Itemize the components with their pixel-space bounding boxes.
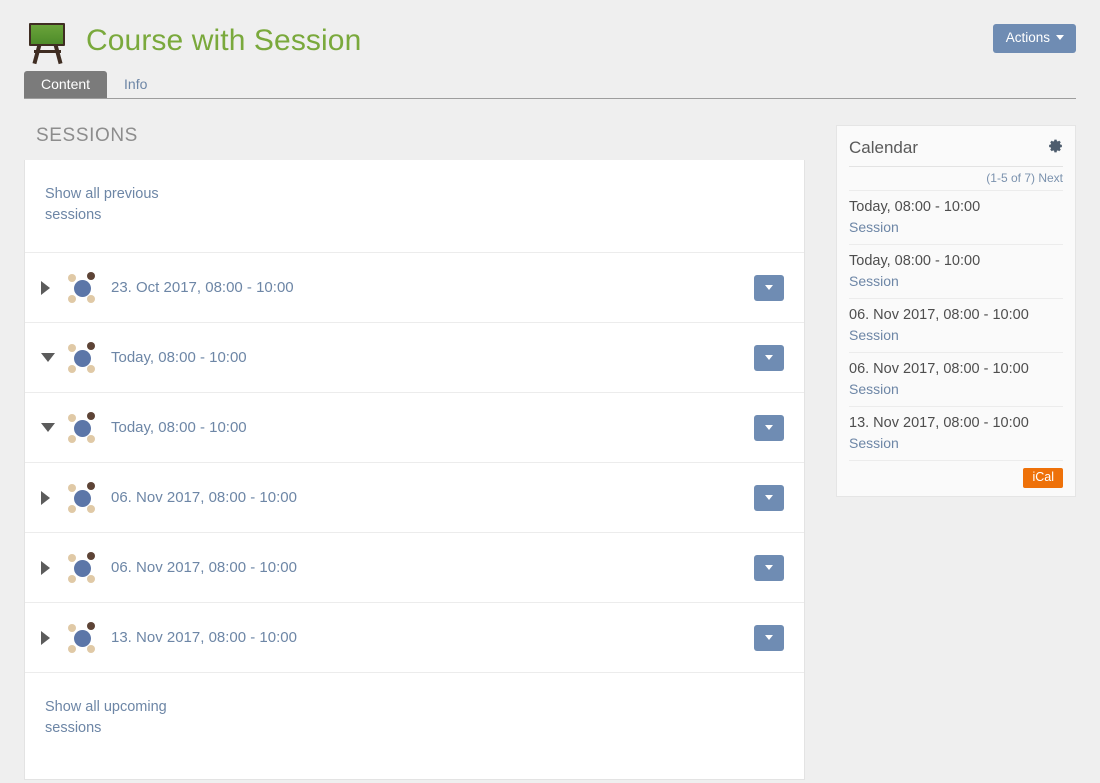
tab-bar: Content Info <box>24 68 1076 99</box>
triangle-right-icon <box>41 491 50 505</box>
gear-icon[interactable] <box>1048 139 1063 157</box>
show-upcoming-row: Show all upcoming sessions <box>25 673 804 779</box>
calendar-entry-date: Today, 08:00 - 10:00 <box>849 197 1063 217</box>
row-actions-button[interactable] <box>754 555 784 581</box>
calendar-entry-link[interactable]: Session <box>849 217 1063 237</box>
chevron-down-icon <box>1056 35 1064 40</box>
expand-collapse-toggle[interactable] <box>41 281 63 295</box>
expand-collapse-toggle[interactable] <box>41 561 63 575</box>
expand-collapse-toggle[interactable] <box>41 491 63 505</box>
sessions-panel: Show all previous sessions 23. Oct 2017,… <box>24 160 805 780</box>
calendar-entry-date: Today, 08:00 - 10:00 <box>849 251 1063 271</box>
show-previous-row: Show all previous sessions <box>25 160 804 253</box>
session-link[interactable]: 06. Nov 2017, 08:00 - 10:00 <box>111 489 754 506</box>
sessions-heading: SESSIONS <box>36 125 805 147</box>
table-row: Today, 08:00 - 10:00 <box>25 323 804 393</box>
row-actions-button[interactable] <box>754 415 784 441</box>
session-group-icon <box>65 621 99 655</box>
triangle-down-icon <box>41 423 55 432</box>
list-item: 06. Nov 2017, 08:00 - 10:00 Session <box>849 352 1063 406</box>
row-actions-button[interactable] <box>754 345 784 371</box>
calendar-column: Calendar (1-5 of 7) Next Today, 08:00 - … <box>836 125 1076 497</box>
triangle-right-icon <box>41 631 50 645</box>
expand-collapse-toggle[interactable] <box>41 631 63 645</box>
easel-chalkboard-icon <box>24 20 70 66</box>
list-item: Today, 08:00 - 10:00 Session <box>849 190 1063 244</box>
sessions-column: SESSIONS Show all previous sessions 23. … <box>24 125 805 780</box>
calendar-panel: Calendar (1-5 of 7) Next Today, 08:00 - … <box>836 125 1076 497</box>
session-group-icon <box>65 341 99 375</box>
calendar-entry-link[interactable]: Session <box>849 379 1063 399</box>
session-group-icon <box>65 271 99 305</box>
chevron-down-icon <box>765 495 773 500</box>
list-item: 06. Nov 2017, 08:00 - 10:00 Session <box>849 298 1063 352</box>
show-all-previous-sessions-link[interactable]: Show all previous sessions <box>45 184 175 226</box>
content-area: SESSIONS Show all previous sessions 23. … <box>0 125 1100 780</box>
calendar-entry-date: 06. Nov 2017, 08:00 - 10:00 <box>849 305 1063 325</box>
calendar-footer: iCal <box>849 460 1063 488</box>
show-all-upcoming-sessions-link[interactable]: Show all upcoming sessions <box>45 697 175 739</box>
table-row: 06. Nov 2017, 08:00 - 10:00 <box>25 463 804 533</box>
table-row: 23. Oct 2017, 08:00 - 10:00 <box>25 253 804 323</box>
chevron-down-icon <box>765 355 773 360</box>
calendar-entry-link[interactable]: Session <box>849 325 1063 345</box>
session-link[interactable]: 06. Nov 2017, 08:00 - 10:00 <box>111 559 754 576</box>
calendar-entry-link[interactable]: Session <box>849 271 1063 291</box>
session-link[interactable]: 23. Oct 2017, 08:00 - 10:00 <box>111 279 754 296</box>
expand-collapse-toggle[interactable] <box>41 353 63 362</box>
calendar-entry-date: 13. Nov 2017, 08:00 - 10:00 <box>849 413 1063 433</box>
chevron-down-icon <box>765 565 773 570</box>
table-row: 06. Nov 2017, 08:00 - 10:00 <box>25 533 804 603</box>
calendar-entry-date: 06. Nov 2017, 08:00 - 10:00 <box>849 359 1063 379</box>
chevron-down-icon <box>765 425 773 430</box>
tab-info[interactable]: Info <box>107 71 164 98</box>
row-actions-button[interactable] <box>754 625 784 651</box>
table-row: 13. Nov 2017, 08:00 - 10:00 <box>25 603 804 673</box>
triangle-right-icon <box>41 281 50 295</box>
calendar-title: Calendar <box>849 138 918 158</box>
actions-button-label: Actions <box>1006 31 1050 45</box>
chevron-down-icon <box>765 285 773 290</box>
row-actions-button[interactable] <box>754 485 784 511</box>
calendar-entry-link[interactable]: Session <box>849 433 1063 453</box>
triangle-right-icon <box>41 561 50 575</box>
triangle-down-icon <box>41 353 55 362</box>
list-item: Today, 08:00 - 10:00 Session <box>849 244 1063 298</box>
row-actions-button[interactable] <box>754 275 784 301</box>
session-group-icon <box>65 411 99 445</box>
session-group-icon <box>65 551 99 585</box>
session-link[interactable]: Today, 08:00 - 10:00 <box>111 349 754 366</box>
actions-button[interactable]: Actions <box>993 24 1076 53</box>
tab-content[interactable]: Content <box>24 71 107 98</box>
ical-button[interactable]: iCal <box>1023 468 1063 488</box>
session-link[interactable]: Today, 08:00 - 10:00 <box>111 419 754 436</box>
table-row: Today, 08:00 - 10:00 <box>25 393 804 463</box>
expand-collapse-toggle[interactable] <box>41 423 63 432</box>
calendar-header: Calendar <box>849 136 1063 167</box>
chevron-down-icon <box>765 635 773 640</box>
calendar-pagination[interactable]: (1-5 of 7) Next <box>849 167 1063 190</box>
session-link[interactable]: 13. Nov 2017, 08:00 - 10:00 <box>111 629 754 646</box>
page-header: Course with Session Actions <box>0 0 1100 68</box>
session-group-icon <box>65 481 99 515</box>
page-title: Course with Session <box>86 18 361 64</box>
list-item: 13. Nov 2017, 08:00 - 10:00 Session <box>849 406 1063 460</box>
